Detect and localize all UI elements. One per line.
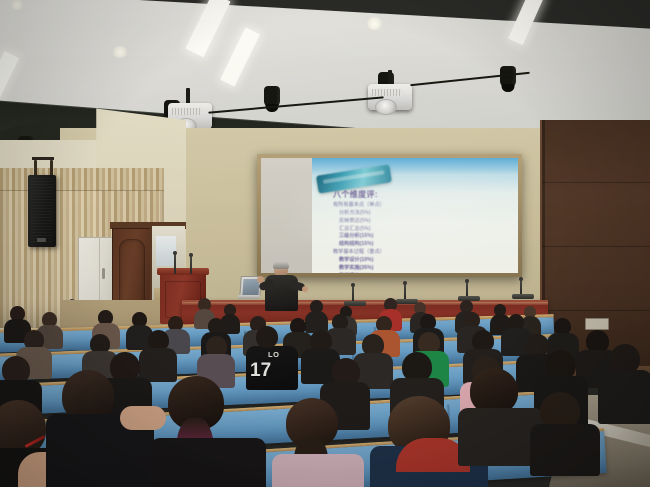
podium-microphone-2 [190, 256, 192, 274]
wall-speaker [28, 175, 56, 247]
slide-title: 八个维度评: [333, 189, 456, 200]
presenter [262, 262, 306, 310]
projector-lens [375, 99, 397, 115]
laptop-keyboard[interactable] [238, 295, 260, 299]
ceiling-downlight-2 [366, 17, 383, 30]
slide-text-block: 八个维度评: 有所有基本点（单点） 分析方法(5%) 反映表达(5%) 汇总汇总… [333, 189, 456, 268]
slide-line: 教学实施(35%) [333, 265, 456, 272]
table-microphone-4 [520, 280, 522, 295]
table-microphone-3 [466, 282, 468, 297]
podium-microphone-1 [174, 254, 176, 274]
jersey-name: LO [268, 350, 279, 359]
slide-line: 汇总汇总(5%) [333, 226, 456, 233]
speaker-badge [37, 238, 46, 242]
projection-screen: 八个维度评: 有所有基本点（单点） 分析方法(5%) 反映表达(5%) 汇总汇总… [257, 154, 522, 277]
curtain-valance [0, 168, 164, 191]
slide-line: 有所有基本点（单点） [333, 202, 456, 209]
audience-member-jersey: LO 17 [246, 346, 298, 390]
screen-surface: 八个维度评: 有所有基本点（单点） 分析方法(5%) 反映表达(5%) 汇总汇总… [261, 158, 518, 273]
table-microphone-base-4 [512, 294, 534, 299]
stage-light-7 [500, 66, 516, 88]
slide-line: 教学设计(10%) [333, 257, 456, 264]
slide-line: 教学基本过程（重点） [333, 249, 456, 256]
door-panel [119, 239, 145, 309]
table-microphone-2 [404, 284, 406, 300]
jersey-number: 17 [250, 360, 271, 382]
ceiling-downlight-3 [10, 0, 24, 10]
presenter-hair [273, 261, 289, 269]
slide-line: 分析方法(5%) [333, 210, 456, 217]
projected-slide: 八个维度评: 有所有基本点（单点） 分析方法(5%) 反映表达(5%) 汇总汇总… [312, 158, 518, 273]
slide-line: 结构结构(15%) [333, 241, 456, 248]
speaker-grill [31, 178, 53, 244]
projector-mount-left [186, 88, 190, 104]
speaker-mount-bar [32, 157, 54, 160]
table-microphone-1 [352, 286, 354, 302]
cabinet-handle[interactable] [102, 268, 105, 279]
projector-vent [372, 89, 402, 96]
podium-top [157, 268, 209, 275]
presenter-left-hand [257, 276, 264, 283]
slide-line: 三级分析(15%) [333, 233, 456, 240]
projector-vent [172, 108, 202, 115]
ceiling-downlight-1 [112, 46, 128, 58]
projector-mount-right [388, 70, 392, 85]
slide-line: 反映表达(5%) [333, 218, 456, 225]
lecture-hall-photo: 八个维度评: 有所有基本点（单点） 分析方法(5%) 反映表达(5%) 汇总汇总… [0, 0, 650, 487]
presenter-right-hand [302, 286, 308, 292]
wall-plate [585, 318, 609, 330]
